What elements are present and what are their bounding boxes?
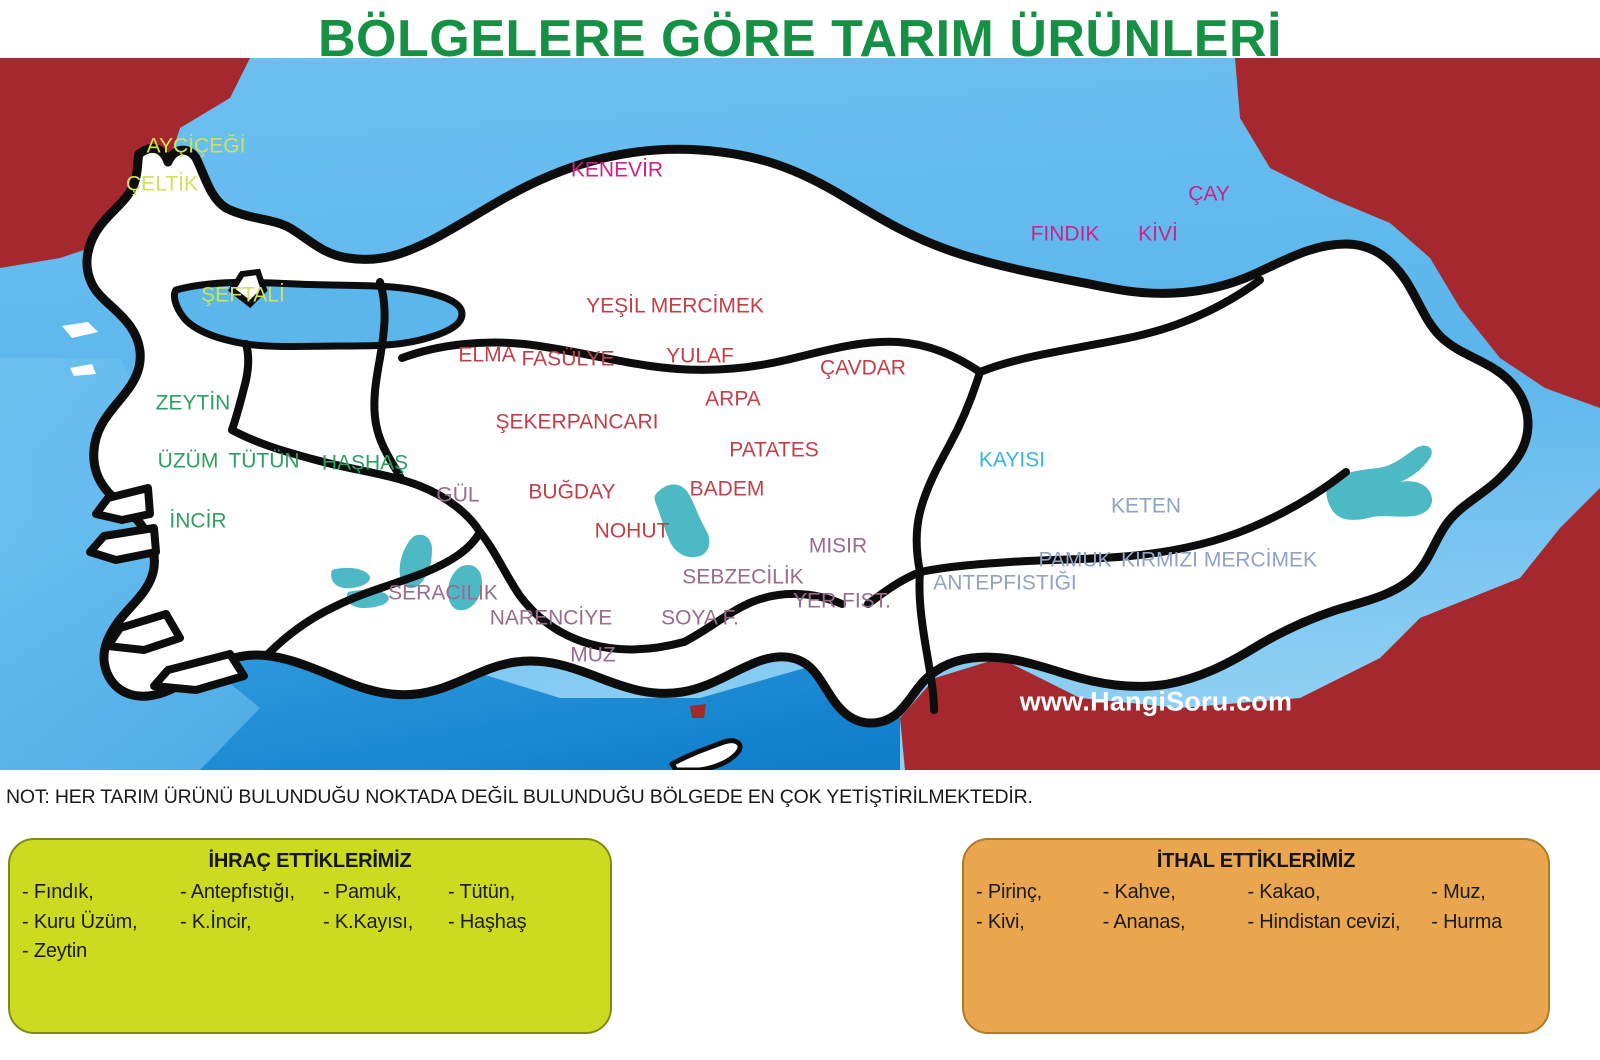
legend-item: - Antepfıstığı, (180, 878, 323, 908)
legend-item: - Hurma (1431, 908, 1536, 938)
legend-item: - Kahve, (1103, 878, 1248, 908)
legend-item: - Ananas, (1103, 908, 1248, 938)
marmara-sea (174, 282, 462, 346)
legend-item: - Kuru Üzüm, (22, 908, 180, 938)
legend-item: - Fındık, (22, 878, 180, 908)
map-svg (0, 58, 1600, 770)
turkey-map: AYÇİÇEĞİÇELTİKŞEFTALİKENEVİRÇAYFINDIKKİV… (0, 58, 1600, 770)
legend-item: - Pamuk, (323, 878, 448, 908)
legend-item: - Pirinç, (976, 878, 1103, 908)
export-legend-box: İHRAÇ ETTİKLERİMİZ - Fındık,- Antepfıstı… (8, 838, 612, 1034)
export-legend-title: İHRAÇ ETTİKLERİMİZ (22, 850, 598, 873)
map-note: NOT: HER TARIM ÜRÜNÜ BULUNDUĞU NOKTADA D… (6, 786, 1506, 809)
legend-item: - Tütün, (448, 878, 568, 908)
title-banner: BÖLGELERE GÖRE TARIM ÜRÜNLERİ (0, 0, 1600, 58)
legend-item: - Muz, (1431, 878, 1536, 908)
cyprus-red-tip (690, 704, 706, 718)
site-watermark: www.HangiSoru.com (1020, 687, 1292, 718)
legend-item: - Kivi, (976, 908, 1103, 938)
legend-item: - Zeytin (22, 937, 180, 967)
import-legend-grid: - Pirinç,- Kahve,- Kakao,- Muz,- Kivi,- … (976, 878, 1536, 937)
legend-item (323, 937, 448, 967)
legend-item: - K.Kayısı, (323, 908, 448, 938)
legend-row: - Kuru Üzüm,- K.İncir,- K.Kayısı,- Haşha… (22, 908, 598, 938)
legend-item (180, 937, 323, 967)
import-legend-title: İTHAL ETTİKLERİMİZ (976, 850, 1536, 873)
legend-row: - Pirinç,- Kahve,- Kakao,- Muz, (976, 878, 1536, 908)
legend-row: - Kivi,- Ananas,- Hindistan cevizi,- Hur… (976, 908, 1536, 938)
legend-row: - Fındık,- Antepfıstığı,- Pamuk,- Tütün, (22, 878, 598, 908)
page-title: BÖLGELERE GÖRE TARIM ÜRÜNLERİ (318, 16, 1282, 58)
legend-item: - Haşhaş (448, 908, 568, 938)
legend-item: - K.İncir, (180, 908, 323, 938)
legend-item: - Kakao, (1247, 878, 1431, 908)
export-legend-grid: - Fındık,- Antepfıstığı,- Pamuk,- Tütün,… (22, 878, 598, 967)
legend-item: - Hindistan cevizi, (1247, 908, 1431, 938)
legend-row: - Zeytin (22, 937, 598, 967)
infographic-page: BÖLGELERE GÖRE TARIM ÜRÜNLERİ (0, 0, 1600, 1060)
import-legend-box: İTHAL ETTİKLERİMİZ - Pirinç,- Kahve,- Ka… (962, 838, 1550, 1034)
legend-item (448, 937, 568, 967)
